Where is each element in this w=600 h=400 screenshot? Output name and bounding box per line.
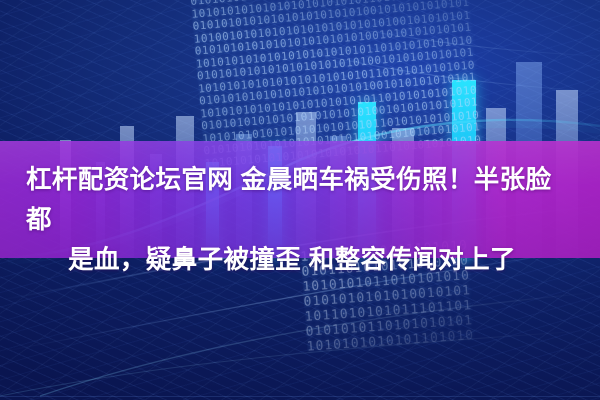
bottom-divider [0,396,600,397]
promo-banner: 010101010101010101010101001010101010101 … [0,0,600,400]
headline-line-2: 是血，疑鼻子被撞歪 和整容传闻对上了 [26,240,574,280]
page-title: 杠杆配资论坛官网 金晨晒车祸受伤照！半张脸都 是血，疑鼻子被撞歪 和整容传闻对上… [0,160,600,280]
headline-line-1: 杠杆配资论坛官网 金晨晒车祸受伤照！半张脸都 [26,160,574,240]
